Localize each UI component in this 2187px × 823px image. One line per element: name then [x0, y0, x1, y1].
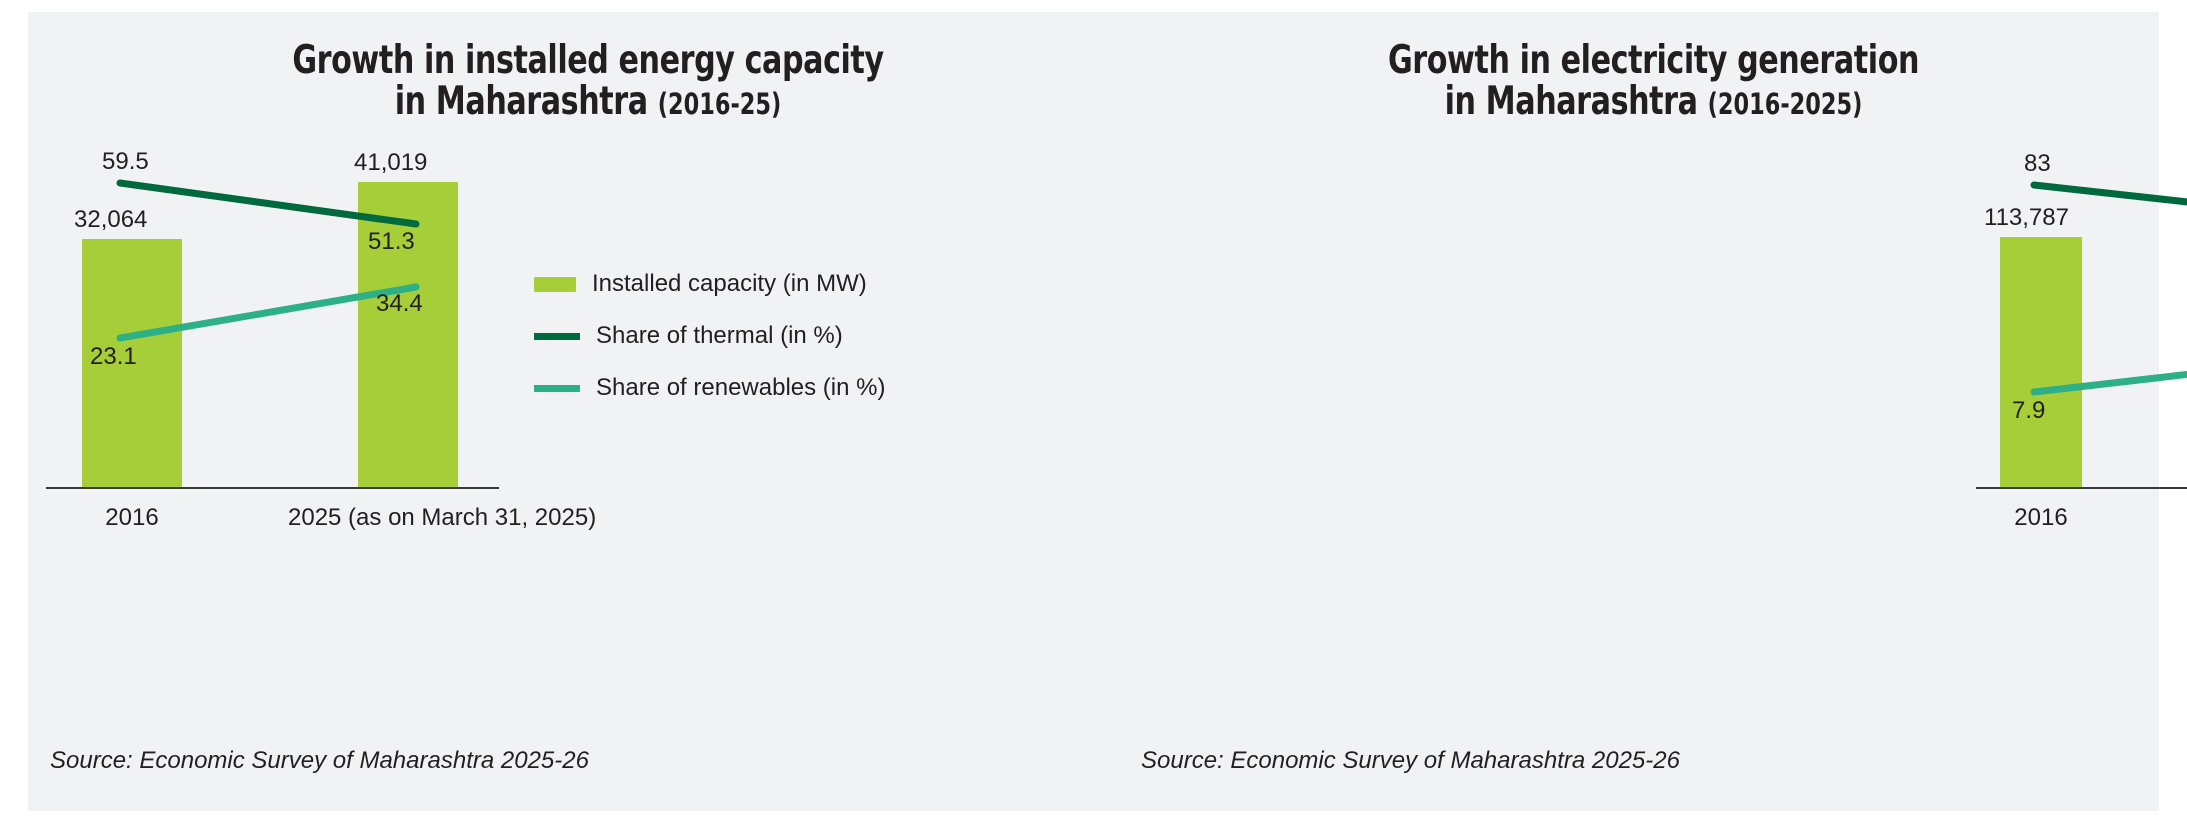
renewables-label-2016: 23.1 [90, 343, 137, 371]
x-axis-line [46, 487, 499, 489]
chart-title-installed-capacity: Growth in installed energy capacity in M… [106, 40, 1069, 125]
thermal-line [2034, 185, 2187, 212]
renewables-line [2034, 364, 2187, 392]
title-line-1: Growth in installed energy capacity [292, 38, 883, 83]
renewables-label-2025: 34.4 [376, 290, 423, 318]
legend-swatch-thermal-icon [534, 333, 580, 340]
title-line-1: Growth in electricity generation [1388, 38, 1919, 83]
thermal-label-2025: 51.3 [368, 228, 415, 256]
title-line-2: in Maharashtra [1445, 79, 1698, 124]
legend-swatch-bar-icon [534, 277, 576, 292]
line-series-overlay [46, 142, 516, 487]
legend-label-thermal: Share of thermal (in %) [596, 322, 843, 350]
plot-area-electricity-generation: 113,787 140,171 83 77.8 7.9 15.1 2016 20… [1976, 142, 2187, 487]
renewables-line [120, 287, 416, 338]
x-tick-2025: 2025 (as on March 31, 2025) [288, 504, 528, 532]
chart-installed-capacity: Growth in installed energy capacity in M… [28, 12, 1148, 811]
legend-label-renewables: Share of renewables (in %) [596, 374, 885, 402]
legend-swatch-renewables-icon [534, 385, 580, 392]
title-year-range: (2016-2025) [1708, 87, 1863, 121]
x-axis-line [1976, 487, 2187, 489]
x-tick-2016: 2016 [1986, 504, 2096, 532]
legend-label-installed-capacity: Installed capacity (in MW) [592, 270, 867, 298]
chart-electricity-generation: Growth in electricity generation in Maha… [1148, 12, 2159, 811]
thermal-label-2016: 59.5 [102, 148, 149, 176]
legend-installed-capacity: Installed capacity (in MW) Share of ther… [534, 270, 885, 402]
x-tick-2016: 2016 [72, 504, 192, 532]
plot-area-installed-capacity: 32,064 41,019 59.5 51.3 23.1 34.4 2016 2… [46, 142, 516, 487]
thermal-label-2016: 83 [2024, 150, 2051, 178]
legend-item-thermal[interactable]: Share of thermal (in %) [534, 322, 885, 350]
legend-item-renewables[interactable]: Share of renewables (in %) [534, 374, 885, 402]
chart-title-electricity-generation: Growth in electricity generation in Maha… [1219, 40, 2088, 125]
legend-item-installed-capacity[interactable]: Installed capacity (in MW) [534, 270, 885, 298]
renewables-label-2016: 7.9 [2012, 397, 2045, 425]
title-line-2: in Maharashtra [395, 79, 648, 124]
title-year-range: (2016-25) [658, 87, 782, 121]
thermal-line [120, 183, 416, 224]
figure-canvas: Growth in installed energy capacity in M… [28, 12, 2159, 811]
source-note-installed-capacity: Source: Economic Survey of Maharashtra 2… [50, 747, 589, 775]
source-note-electricity-generation: Source: Economic Survey of Maharashtra 2… [1141, 747, 1680, 775]
line-series-overlay [1976, 142, 2187, 487]
